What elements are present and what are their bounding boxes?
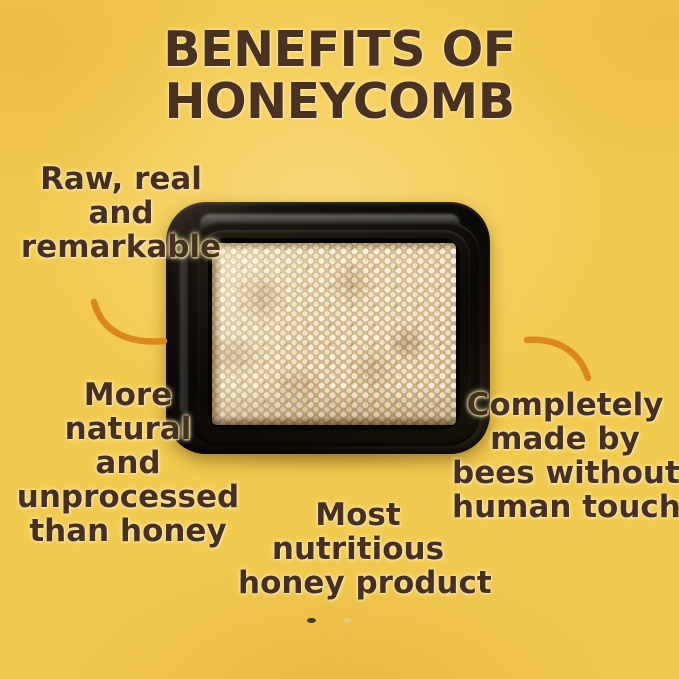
benefit-raw-line-2: and	[16, 196, 226, 230]
honeycomb-block	[212, 243, 456, 425]
page-title: BENEFITS OF HONEYCOMB	[0, 24, 679, 128]
benefit-most-line-2: nutritious	[238, 532, 478, 566]
title-line-1: BENEFITS OF	[0, 24, 679, 76]
benefit-more-line-2: natural	[8, 412, 248, 446]
benefit-more-line-1: More	[8, 378, 248, 412]
title-line-2: HONEYCOMB	[0, 76, 679, 128]
accent-arc-right-icon	[522, 328, 608, 384]
benefit-complete-line-3: bees without	[452, 456, 678, 490]
benefit-raw-real-remarkable: Raw, real and remarkable	[16, 162, 226, 264]
benefit-complete-line-4: human touch	[452, 490, 678, 524]
benefit-more-line-3: and	[8, 446, 248, 480]
benefit-completely-made-by-bees: Completely made by bees without human to…	[452, 388, 678, 524]
honeycomb-edge-top	[212, 243, 456, 250]
accent-arc-left-icon	[88, 296, 172, 352]
honeycomb-edge-bottom	[212, 416, 456, 425]
poster-canvas: BENEFITS OF HONEYCOMB	[0, 0, 679, 679]
benefit-more-line-4: unprocessed	[8, 480, 248, 514]
benefit-more-natural: More natural and unprocessed than honey	[8, 378, 248, 548]
benefit-more-line-5: than honey	[8, 514, 248, 548]
benefit-most-line-3: honey product	[238, 566, 478, 600]
benefit-most-line-1: Most	[238, 498, 478, 532]
benefit-raw-line-3: remarkable	[16, 230, 226, 264]
benefit-raw-line-1: Raw, real	[16, 162, 226, 196]
benefit-most-nutritious: Most nutritious honey product	[238, 498, 478, 600]
benefit-complete-line-1: Completely	[452, 388, 678, 422]
benefit-complete-line-2: made by	[452, 422, 678, 456]
honeycomb-sheen	[212, 243, 456, 425]
